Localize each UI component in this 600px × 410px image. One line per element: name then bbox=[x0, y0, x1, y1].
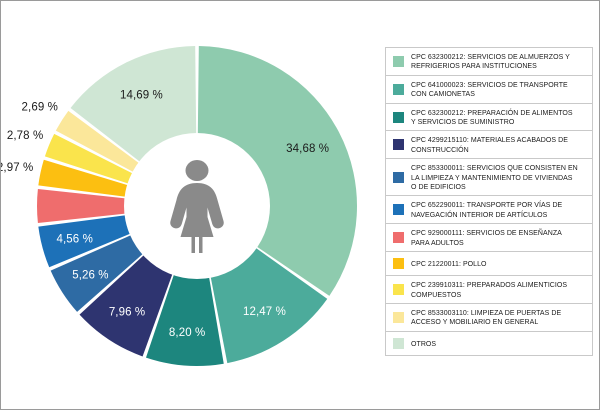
legend-item[interactable]: CPC 853300011: SERVICIOS QUE CONSISTEN E… bbox=[386, 159, 592, 196]
legend-item-label: CPC 652290011: TRANSPORTE POR VÍAS DE NA… bbox=[411, 200, 579, 219]
legend-item-label: CPC 4299215110: MATERIALES ACABADOS DE C… bbox=[411, 135, 579, 154]
female-figure-icon bbox=[162, 159, 232, 255]
slice-value-label: 5,26 % bbox=[72, 269, 108, 281]
slice-value-label: 14,69 % bbox=[120, 89, 163, 101]
slice-value-label: 7,96 % bbox=[109, 306, 145, 318]
legend-item[interactable]: OTROS bbox=[386, 332, 592, 356]
legend-item[interactable]: CPC 632300212: SERVICIOS DE ALMUERZOS Y … bbox=[386, 47, 592, 76]
slice-value-label: 2,69 % bbox=[22, 102, 58, 114]
legend-item[interactable]: CPC 632300212: PREPARACIÓN DE ALIMENTOS … bbox=[386, 104, 592, 132]
legend-swatch-icon bbox=[393, 312, 404, 323]
legend-swatch-icon bbox=[393, 112, 404, 123]
slice-value-label: 4,56 % bbox=[57, 234, 93, 246]
donut-chart: 34,68 %12,47 %8,20 %7,96 %5,26 %4,56 %3,… bbox=[9, 9, 379, 403]
legend-item-label: CPC 641000023: SERVICIOS DE TRANSPORTE C… bbox=[411, 80, 579, 99]
legend-item-label: CPC 632300212: SERVICIOS DE ALMUERZOS Y … bbox=[411, 52, 579, 71]
legend-swatch-icon bbox=[393, 56, 404, 67]
legend-item[interactable]: CPC 4299215110: MATERIALES ACABADOS DE C… bbox=[386, 131, 592, 159]
donut-graphic: 34,68 %12,47 %8,20 %7,96 %5,26 %4,56 %3,… bbox=[37, 31, 357, 381]
chart-legend: CPC 632300212: SERVICIOS DE ALMUERZOS Y … bbox=[385, 47, 593, 356]
legend-item-label: CPC 632300212: PREPARACIÓN DE ALIMENTOS … bbox=[411, 108, 579, 127]
slice-value-label: 3,75 % bbox=[0, 201, 29, 213]
legend-item-label: CPC 929000111: SERVICIOS DE ENSEÑANZA PA… bbox=[411, 228, 579, 247]
legend-swatch-icon bbox=[393, 258, 404, 269]
legend-item[interactable]: CPC 21220011: POLLO bbox=[386, 252, 592, 276]
legend-item[interactable]: CPC 8533003110: LIMPIEZA DE PUERTAS DE A… bbox=[386, 304, 592, 332]
legend-swatch-icon bbox=[393, 338, 404, 349]
slice-value-label: 2,78 % bbox=[7, 130, 43, 142]
legend-item-label: CPC 853300011: SERVICIOS QUE CONSISTEN E… bbox=[411, 163, 579, 191]
legend-item[interactable]: CPC 929000111: SERVICIOS DE ENSEÑANZA PA… bbox=[386, 224, 592, 252]
legend-swatch-icon bbox=[393, 232, 404, 243]
legend-item[interactable]: CPC 652290011: TRANSPORTE POR VÍAS DE NA… bbox=[386, 196, 592, 224]
legend-item-label: CPC 8533003110: LIMPIEZA DE PUERTAS DE A… bbox=[411, 308, 579, 327]
legend-swatch-icon bbox=[393, 84, 404, 95]
slice-value-label: 34,68 % bbox=[286, 143, 329, 155]
legend-item-label: CPC 239910311: PREPARADOS ALIMENTICIOS C… bbox=[411, 280, 579, 299]
legend-swatch-icon bbox=[393, 172, 404, 183]
chart-page: 34,68 %12,47 %8,20 %7,96 %5,26 %4,56 %3,… bbox=[0, 0, 600, 410]
legend-swatch-icon bbox=[393, 139, 404, 150]
slice-value-label: 8,20 % bbox=[169, 327, 205, 339]
slice-value-label: 12,47 % bbox=[243, 306, 286, 318]
legend-item-label: CPC 21220011: POLLO bbox=[411, 259, 579, 268]
legend-item[interactable]: CPC 239910311: PREPARADOS ALIMENTICIOS C… bbox=[386, 276, 592, 304]
legend-item-label: OTROS bbox=[411, 339, 579, 348]
legend-item[interactable]: CPC 641000023: SERVICIOS DE TRANSPORTE C… bbox=[386, 76, 592, 104]
slice-value-label: 2,97 % bbox=[0, 162, 33, 174]
legend-swatch-icon bbox=[393, 284, 404, 295]
legend-swatch-icon bbox=[393, 204, 404, 215]
